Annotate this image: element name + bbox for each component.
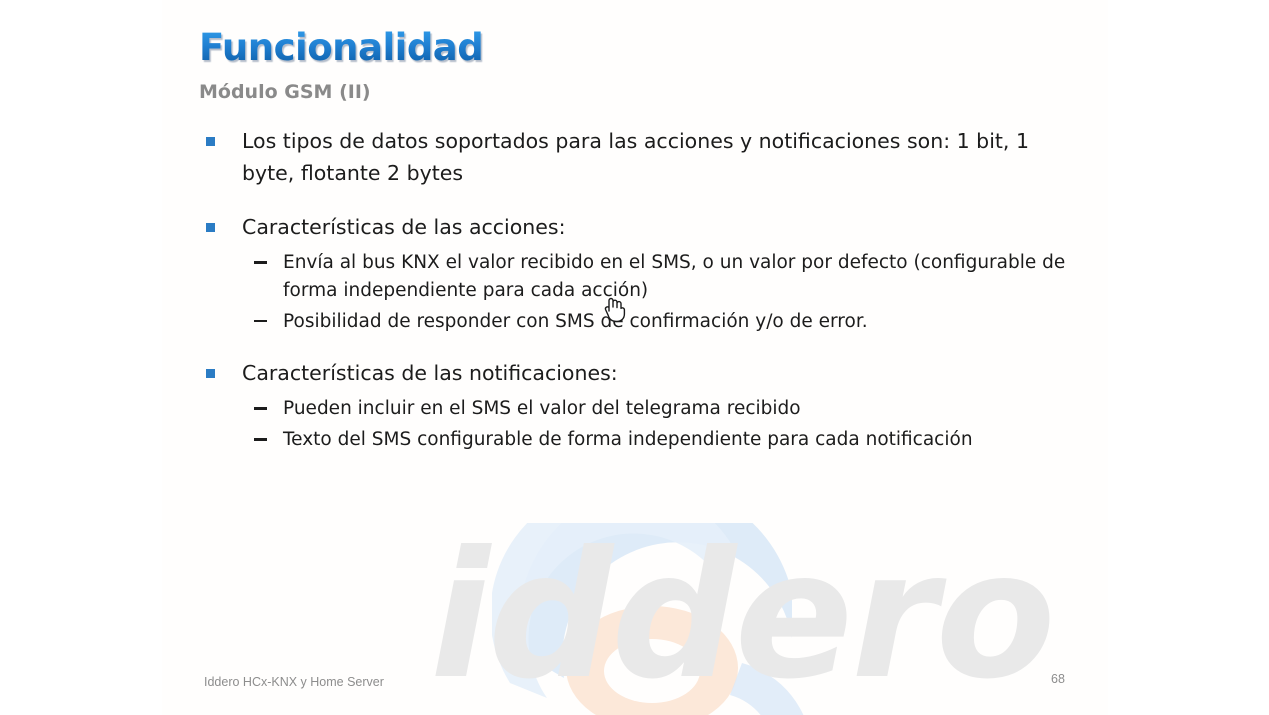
bullet-text: Características de las notificaciones: [242, 361, 618, 385]
list-item: Los tipos de datos soportados para las a… [195, 126, 1080, 190]
watermark-text: iddero [430, 529, 1054, 704]
bullet-text: Características de las acciones: [242, 215, 566, 239]
bullet-text: Posibilidad de responder con SMS de conf… [283, 311, 868, 332]
square-bullet-icon [206, 223, 215, 232]
presentation-slide[interactable]: iddero Funcionalidad Funcionalidad Módul… [162, 0, 1108, 715]
footer-label: Iddero HCx-KNX y Home Server [204, 675, 384, 689]
watermark-swoosh-graphic [492, 523, 822, 715]
list-item: Características de las acciones: Envía a… [195, 212, 1080, 336]
dash-bullet-icon [254, 261, 267, 264]
list-item: Texto del SMS configurable de forma inde… [242, 426, 1080, 454]
list-item: Pueden incluir en el SMS el valor del te… [242, 395, 1080, 423]
dash-bullet-icon [254, 320, 267, 323]
page-subtitle: Módulo GSM (II) [199, 81, 371, 103]
sub-list: Pueden incluir en el SMS el valor del te… [242, 395, 1080, 454]
page-title: Funcionalidad [199, 29, 483, 66]
square-bullet-icon [206, 137, 215, 146]
slide-viewport: iddero Funcionalidad Funcionalidad Módul… [0, 0, 1269, 715]
bullet-text: Texto del SMS configurable de forma inde… [283, 429, 973, 450]
bullet-text: Los tipos de datos soportados para las a… [242, 129, 1029, 185]
square-bullet-icon [206, 369, 215, 378]
list-item: Posibilidad de responder con SMS de conf… [242, 308, 1080, 336]
list-item: Envía al bus KNX el valor recibido en el… [242, 249, 1080, 305]
slide-body: Los tipos de datos soportados para las a… [195, 126, 1095, 470]
page-number: 68 [1051, 672, 1065, 686]
dash-bullet-icon [254, 407, 267, 410]
sub-list: Envía al bus KNX el valor recibido en el… [242, 249, 1080, 335]
bullet-text: Envía al bus KNX el valor recibido en el… [283, 252, 1065, 301]
bullet-text: Pueden incluir en el SMS el valor del te… [283, 398, 801, 419]
dash-bullet-icon [254, 438, 267, 441]
list-item: Características de las notificaciones: P… [195, 358, 1080, 454]
